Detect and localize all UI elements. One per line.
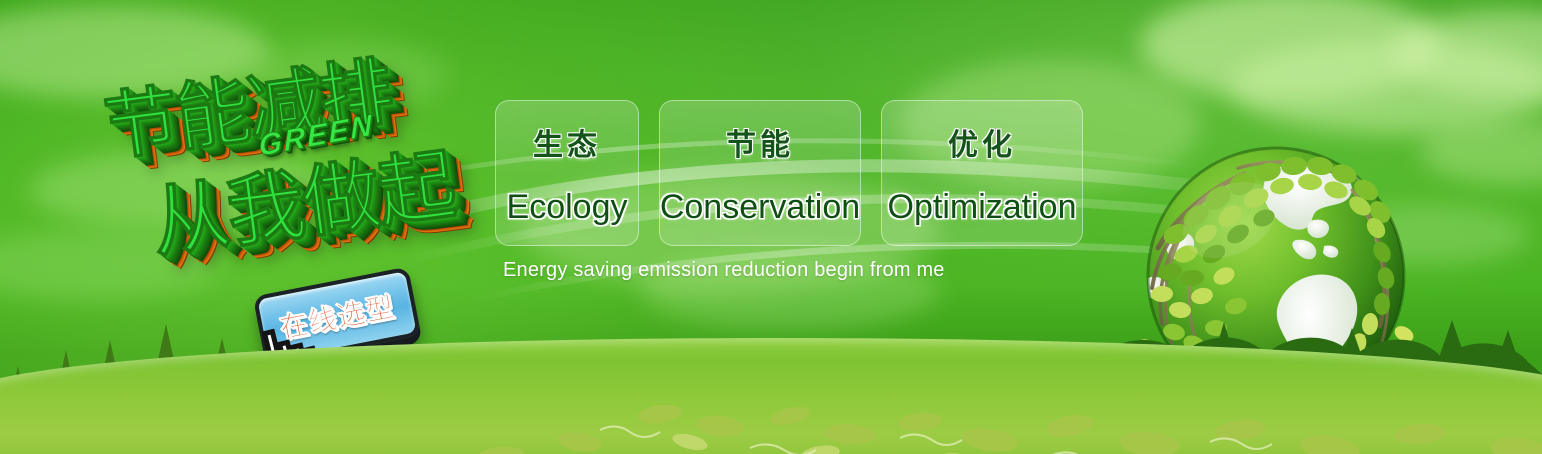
feature-card[interactable]: 生态 Ecology: [495, 100, 639, 246]
grass-ground: [0, 338, 1542, 454]
feature-card-en-label: Optimization: [888, 188, 1077, 227]
feature-card[interactable]: 节能 Conservation: [659, 100, 861, 246]
feature-card-cn-label: 生态: [533, 120, 601, 164]
feature-card[interactable]: 优化 Optimization: [881, 100, 1083, 246]
feature-card-cn-label: 节能: [726, 120, 794, 164]
scattered-leaves-decoration: [0, 338, 1542, 454]
green-energy-banner: 节能减排 GREEN 从我做起 在线选型 生态 Ecology 节能 Conse…: [0, 0, 1542, 454]
feature-card-cn-label: 优化: [948, 120, 1016, 164]
feature-card-en-label: Ecology: [507, 188, 628, 227]
hero-headline: 节能减排 GREEN 从我做起: [79, 12, 516, 294]
cloud-shape: [1390, 10, 1542, 96]
cloud-shape: [1230, 38, 1542, 134]
cloud-shape: [1420, 120, 1542, 184]
feature-card-en-label: Conservation: [660, 188, 860, 227]
banner-subtitle: Energy saving emission reduction begin f…: [503, 259, 945, 282]
feature-card-list: 生态 Ecology 节能 Conservation 优化 Optimizati…: [495, 100, 1083, 246]
cloud-shape: [1140, 0, 1440, 100]
